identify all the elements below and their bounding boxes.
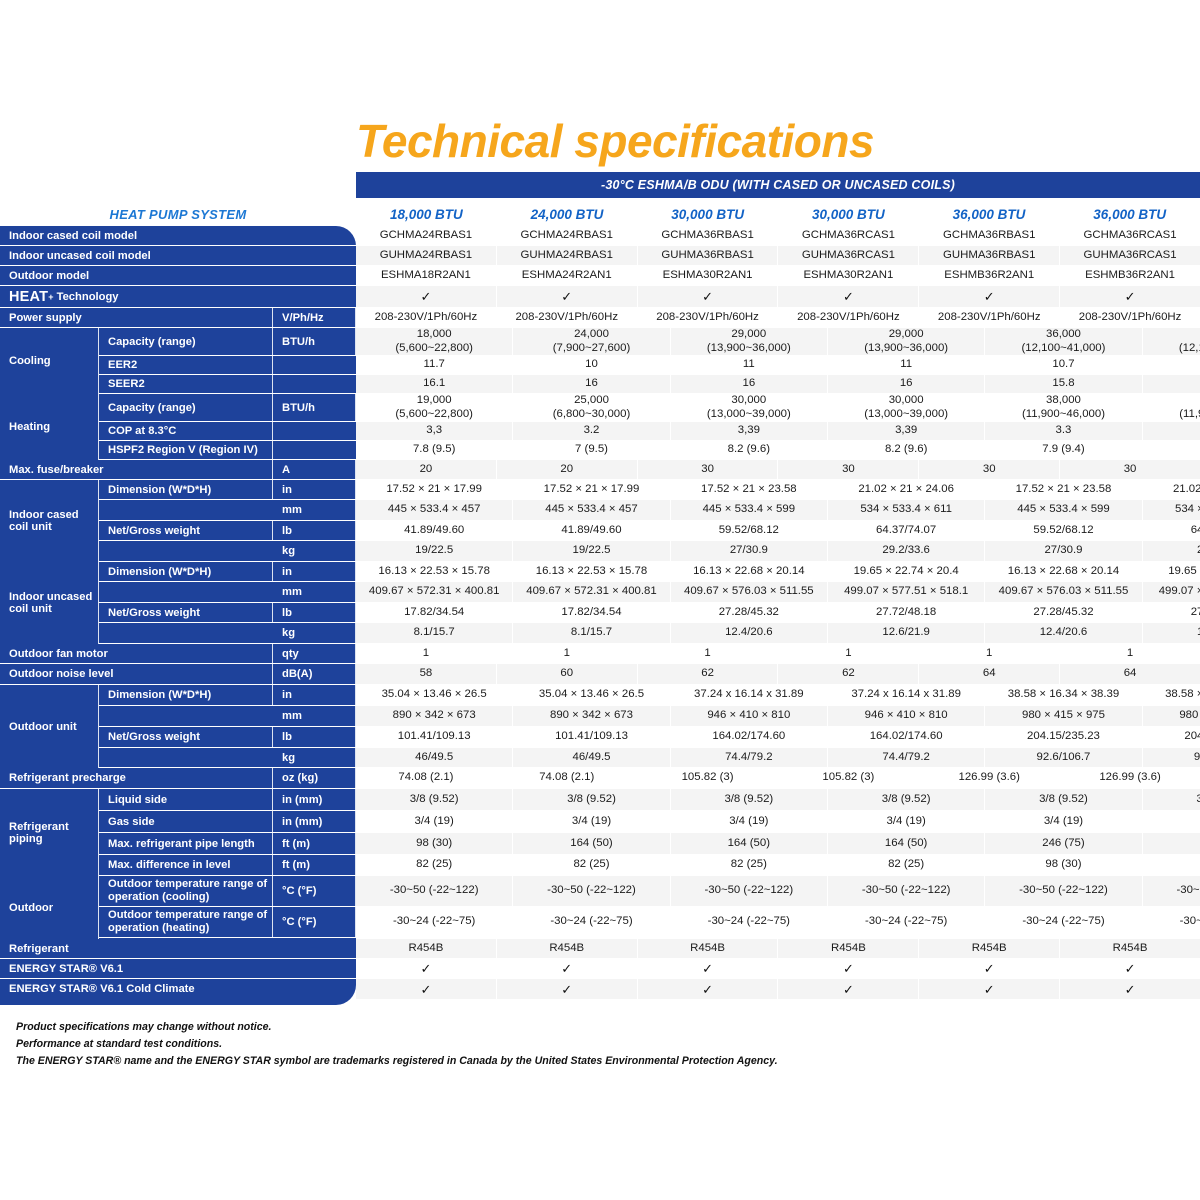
cell: 3/8 (9.52) xyxy=(828,789,985,810)
table-row: Net/Gross weight lb 41.89/49.60 41.89/49… xyxy=(99,521,1200,541)
cell: 3/8 (9.52) xyxy=(985,789,1142,810)
group-label-heating: Heating xyxy=(0,394,99,460)
table-row: Net/Gross weight lb 17.82/34.54 17.82/34… xyxy=(99,603,1200,623)
cell-check: ✓ xyxy=(638,959,779,978)
cell: 126.99 (3.6) xyxy=(919,768,1060,788)
cell: 17.82/34.54 xyxy=(356,603,513,622)
cell: 98 (30) xyxy=(1143,855,1200,875)
row-label: Outdoor temperature range of operation (… xyxy=(99,907,273,937)
row-label: Net/Gross weight xyxy=(99,603,273,622)
group-outdoor-unit: Outdoor unit Dimension (W*D*H) in 35.04 … xyxy=(0,685,1200,768)
row-label-spacer xyxy=(99,500,273,520)
cell: 17.82/34.54 xyxy=(513,603,670,622)
cell: 30 xyxy=(1060,460,1200,479)
cell-line1: 38,000 xyxy=(1046,394,1081,407)
group-label-cooling: Cooling xyxy=(0,328,99,394)
cell: 499.07 × 577.51 × 518.1 xyxy=(828,582,985,602)
table-row: Outdoor temperature range of operation (… xyxy=(99,907,1200,938)
row-label-spacer xyxy=(99,706,273,726)
spec-table: Indoor cased coil model GCHMA24RBAS1 GCH… xyxy=(0,226,1200,999)
cell: 12.6/21.9 xyxy=(828,623,985,643)
check-icon: ✓ xyxy=(843,962,854,975)
cell: 41.89/49.60 xyxy=(356,521,513,540)
cell: 208-230V/1Ph/60Hz xyxy=(638,308,779,327)
cell: 29.2/33.6 xyxy=(828,541,985,561)
table-row: Outdoor fan motor qty 1 1 1 1 1 1 xyxy=(0,644,1200,664)
cell: 208-230V/1Ph/60Hz xyxy=(1060,308,1200,327)
cell: GUHMA36RBAS1 xyxy=(919,246,1060,265)
cell: 36,000(12,100~41,000) xyxy=(1143,328,1200,355)
row-label-spacer xyxy=(99,541,273,561)
cell: 3,39 xyxy=(828,422,985,440)
cell: -30~24 (-22~75) xyxy=(1143,907,1200,937)
cell: 16 xyxy=(671,375,828,393)
check-icon: ✓ xyxy=(561,983,572,996)
cell-line2: (13,900~36,000) xyxy=(864,342,948,355)
cell: 164 (50) xyxy=(513,833,670,854)
table-row: Capacity (range) BTU/h 18,000(5,600~22,8… xyxy=(99,328,1200,356)
check-icon: ✓ xyxy=(420,290,431,303)
cell: 890 × 342 × 673 xyxy=(356,706,513,726)
cell: 17.52 × 21 × 23.58 xyxy=(985,480,1142,499)
table-row: SEER2 16.1 16 16 16 15.8 15.8 xyxy=(99,375,1200,394)
cell: 21.02 × 21 × 24.06 xyxy=(828,480,985,499)
cell: 3/4 (19) xyxy=(828,811,985,832)
row-label: COP at 8.3°C xyxy=(99,422,273,440)
row-label: EER2 xyxy=(99,356,273,374)
row-label: Power supply xyxy=(0,308,273,327)
cell-line2: (7,900~27,600) xyxy=(553,342,631,355)
table-row: ENERGY STAR® V6.1 Cold Climate ✓ ✓ ✓ ✓ ✓… xyxy=(0,979,1200,999)
check-icon: ✓ xyxy=(1125,290,1136,303)
cell: 29,000(13,900~36,000) xyxy=(671,328,828,355)
table-row: Indoor uncased coil model GUHMA24RBAS1 G… xyxy=(0,246,1200,266)
cell: 46/49.5 xyxy=(513,748,670,767)
cell: ESHMA18R2AN1 xyxy=(356,266,497,285)
cell: 8.1/15.7 xyxy=(356,623,513,643)
cell: 3/8 (9.52) xyxy=(671,789,828,810)
cell: 10 xyxy=(513,356,670,374)
cell: 27.28/45.32 xyxy=(985,603,1142,622)
cell: -30~24 (-22~75) xyxy=(513,907,670,937)
cell: 19.65 × 22.74 × 20.4 xyxy=(828,562,985,581)
cell: 164.02/174.60 xyxy=(828,727,985,747)
check-icon: ✓ xyxy=(702,962,713,975)
cell-line2: (11,900~46,000) xyxy=(1179,408,1200,421)
group-label-outdoor-unit: Outdoor unit xyxy=(0,685,99,768)
cell: GUHMA24RBAS1 xyxy=(497,246,638,265)
cell-line2: (6,800~30,000) xyxy=(553,408,631,421)
check-icon: ✓ xyxy=(420,962,431,975)
cell: 10.7 xyxy=(1143,356,1200,374)
cell: -30~24 (-22~75) xyxy=(356,907,513,937)
cell: 35.04 × 13.46 × 26.5 xyxy=(513,685,670,705)
row-label: Outdoor model xyxy=(0,266,356,285)
group-heating: Heating Capacity (range) BTU/h 19,000(5,… xyxy=(0,394,1200,460)
cell: 82 (25) xyxy=(671,855,828,875)
cell-check: ✓ xyxy=(497,959,638,978)
cell: 15.8 xyxy=(1143,375,1200,393)
cell: 946 × 410 × 810 xyxy=(671,706,828,726)
check-icon: ✓ xyxy=(702,983,713,996)
cell: 27/30.9 xyxy=(671,541,828,561)
cell-line2: (13,000~39,000) xyxy=(864,408,948,421)
cell: 164 (50) xyxy=(671,833,828,854)
cell: R454B xyxy=(638,939,779,958)
cell: 38,000(11,900~46,000) xyxy=(1143,394,1200,421)
page-title: Technical specifications xyxy=(356,118,874,164)
table-row: Outdoor noise level dB(A) 58 60 62 62 64… xyxy=(0,664,1200,685)
group-cooling: Cooling Capacity (range) BTU/h 18,000(5,… xyxy=(0,328,1200,394)
cell: 11 xyxy=(671,356,828,374)
cell: 1 xyxy=(919,644,1060,663)
cell: 16.1 xyxy=(356,375,513,393)
footnote-0: Product specifications may change withou… xyxy=(16,1019,1016,1036)
odu-header-band: -30°C ESHMA/B ODU (WITH CASED OR UNCASED… xyxy=(356,172,1200,198)
group-outdoor: Outdoor Outdoor temperature range of ope… xyxy=(0,876,1200,939)
cell: 101.41/109.13 xyxy=(513,727,670,747)
cell-line1: 18,000 xyxy=(417,328,452,341)
row-unit: A xyxy=(273,460,356,479)
cell-check: ✓ xyxy=(497,979,638,999)
cell-check: ✓ xyxy=(919,286,1060,307)
row-label: Indoor uncased coil model xyxy=(0,246,356,265)
check-icon: ✓ xyxy=(561,290,572,303)
cell: -30~24 (-22~75) xyxy=(828,907,985,937)
cell: 30 xyxy=(638,460,779,479)
table-row: HSPF2 Region V (Region IV) 7.8 (9.5) 7 (… xyxy=(99,441,1200,460)
cell: R454B xyxy=(356,939,497,958)
cell-line1: 24,000 xyxy=(574,328,609,341)
table-row: kg 19/22.5 19/22.5 27/30.9 29.2/33.6 27/… xyxy=(99,541,1200,562)
check-icon: ✓ xyxy=(1125,962,1136,975)
cell-line2: (12,100~41,000) xyxy=(1022,342,1106,355)
cell: R454B xyxy=(919,939,1060,958)
cell: 12.6/21.9 xyxy=(1143,623,1200,643)
cell: 208-230V/1Ph/60Hz xyxy=(356,308,497,327)
cell: R454B xyxy=(497,939,638,958)
group-label-refrigerant-piping: Refrigerant piping xyxy=(0,789,99,876)
cell-check: ✓ xyxy=(1060,959,1200,978)
cell: 27.28/45.32 xyxy=(671,603,828,622)
cell-line1: 36,000 xyxy=(1046,328,1081,341)
column-header-5: 36,000 BTU xyxy=(1059,203,1200,225)
cell-check: ✓ xyxy=(356,286,497,307)
row-label: Outdoor noise level xyxy=(0,664,273,684)
cell: 10.7 xyxy=(985,356,1142,374)
cell: 64 xyxy=(1060,664,1200,684)
cell: 64 xyxy=(919,664,1060,684)
cell: 1 xyxy=(778,644,919,663)
cell-check: ✓ xyxy=(1060,979,1200,999)
row-label: Dimension (W*D*H) xyxy=(99,562,273,581)
row-label: Max. refrigerant pipe length xyxy=(99,833,273,854)
cell: R454B xyxy=(778,939,919,958)
cell: 98 (30) xyxy=(985,855,1142,875)
table-row: COP at 8.3°C 3,3 3.2 3,39 3,39 3.3 3.3 xyxy=(99,422,1200,441)
cell: -30~24 (-22~75) xyxy=(985,907,1142,937)
table-row: mm 409.67 × 572.31 × 400.81 409.67 × 572… xyxy=(99,582,1200,603)
row-label: Outdoor fan motor xyxy=(0,644,273,663)
cell: 534 × 533.4 × 611 xyxy=(828,500,985,520)
cell: 3,39 xyxy=(671,422,828,440)
row-unit: °C (°F) xyxy=(273,876,356,906)
cell: 24,000(7,900~27,600) xyxy=(513,328,670,355)
cell: 204.15/235.23 xyxy=(985,727,1142,747)
cell-check: ✓ xyxy=(638,286,779,307)
cell: R454B xyxy=(1060,939,1200,958)
cell: 82 (25) xyxy=(513,855,670,875)
row-label: Max. fuse/breaker xyxy=(0,460,273,479)
cell: 7 (9.5) xyxy=(513,441,670,459)
cell: 38,000(11,900~46,000) xyxy=(985,394,1142,421)
cell: 409.67 × 572.31 × 400.81 xyxy=(356,582,513,602)
cell: 445 × 533.4 × 599 xyxy=(671,500,828,520)
cell: 445 × 533.4 × 599 xyxy=(985,500,1142,520)
table-row: kg 46/49.5 46/49.5 74.4/79.2 74.4/79.2 9… xyxy=(99,748,1200,768)
cell-check: ✓ xyxy=(356,959,497,978)
cell: 64.37/74.07 xyxy=(828,521,985,540)
table-row: kg 8.1/15.7 8.1/15.7 12.4/20.6 12.6/21.9… xyxy=(99,623,1200,644)
cell: 8.2 (9.6) xyxy=(671,441,828,459)
cell: 7.9 (9.4) xyxy=(1143,441,1200,459)
cell: 17.52 × 21 × 23.58 xyxy=(671,480,828,499)
cell: 36,000(12,100~41,000) xyxy=(985,328,1142,355)
column-header-1: 24,000 BTU xyxy=(497,203,638,225)
cell: 74.08 (2.1) xyxy=(497,768,638,788)
cell: 82 (25) xyxy=(828,855,985,875)
row-label: Gas side xyxy=(99,811,273,832)
row-unit: in xyxy=(273,562,356,581)
cell: 21.02 × 21 × 24.06 xyxy=(1143,480,1200,499)
row-label: Liquid side xyxy=(99,789,273,810)
cell: 38.58 × 16.34 × 38.39 xyxy=(985,685,1142,705)
row-unit: in xyxy=(273,480,356,499)
column-header-4: 36,000 BTU xyxy=(919,203,1060,225)
table-row: Capacity (range) BTU/h 19,000(5,600~22,8… xyxy=(99,394,1200,422)
cell: 3.2 xyxy=(513,422,670,440)
cell: 35.04 × 13.46 × 26.5 xyxy=(356,685,513,705)
cell: 74.4/79.2 xyxy=(671,748,828,767)
cell: 164.02/174.60 xyxy=(671,727,828,747)
cell-line1: 29,000 xyxy=(731,328,766,341)
cell: 8.2 (9.6) xyxy=(828,441,985,459)
row-unit: BTU/h xyxy=(273,394,356,421)
cell: GCHMA24RBAS1 xyxy=(356,226,497,245)
group-refrigerant-piping: Refrigerant piping Liquid side in (mm) 3… xyxy=(0,789,1200,876)
cell: 1 xyxy=(1060,644,1200,663)
row-label: Dimension (W*D*H) xyxy=(99,685,273,705)
row-label-spacer xyxy=(99,623,273,643)
cell-line2: (5,600~22,800) xyxy=(395,342,473,355)
row-unit: mm xyxy=(273,582,356,602)
row-unit: oz (kg) xyxy=(273,768,356,788)
check-icon: ✓ xyxy=(984,962,995,975)
cell: 8.1/15.7 xyxy=(513,623,670,643)
row-label: Net/Gross weight xyxy=(99,521,273,540)
cell: 37.24 x 16.14 x 31.89 xyxy=(671,685,828,705)
heat-label: HEAT xyxy=(9,289,48,305)
cell: 3,3 xyxy=(356,422,513,440)
cell: 38.58 × 16.34 × 38.39 xyxy=(1143,685,1200,705)
row-label-spacer xyxy=(99,748,273,767)
cell-check: ✓ xyxy=(638,979,779,999)
row-unit: kg xyxy=(273,623,356,643)
cell: GCHMA36RBAS1 xyxy=(638,226,779,245)
cell: 101.41/109.13 xyxy=(356,727,513,747)
check-icon: ✓ xyxy=(984,290,995,303)
cell: 409.67 × 576.03 × 511.55 xyxy=(671,582,828,602)
cell: 3.3 xyxy=(1143,422,1200,440)
cell: 19/22.5 xyxy=(356,541,513,561)
cell-line1: 29,000 xyxy=(889,328,924,341)
cell: 3/8 (9.52) xyxy=(1143,789,1200,810)
cell: GCHMA24RBAS1 xyxy=(497,226,638,245)
cell: 29.2/33.6 xyxy=(1143,541,1200,561)
group-indoor-cased-coil-unit: Indoor cased coil unit Dimension (W*D*H)… xyxy=(0,480,1200,562)
cell: GUHMA36RBAS1 xyxy=(638,246,779,265)
table-row: Power supply V/Ph/Hz 208-230V/1Ph/60Hz 2… xyxy=(0,308,1200,328)
cell: 499.07 × 577.51 × 518.1 xyxy=(1143,582,1200,602)
cell: GUHMA36RCAS1 xyxy=(1060,246,1200,265)
row-unit: mm xyxy=(273,500,356,520)
cell: 3/4 (19) xyxy=(1143,811,1200,832)
table-row: Dimension (W*D*H) in 35.04 × 13.46 × 26.… xyxy=(99,685,1200,706)
cell-line2: (13,900~36,000) xyxy=(707,342,791,355)
cell: 30,000(13,000~39,000) xyxy=(828,394,985,421)
cell: 946 × 410 × 810 xyxy=(828,706,985,726)
row-label: HSPF2 Region V (Region IV) xyxy=(99,441,273,459)
cell: 19/22.5 xyxy=(513,541,670,561)
table-row: Refrigerant precharge oz (kg) 74.08 (2.1… xyxy=(0,768,1200,789)
column-header-2: 30,000 BTU xyxy=(637,203,778,225)
cell: 204.15/235.23 xyxy=(1143,727,1200,747)
cell: GCHMA36RCAS1 xyxy=(1060,226,1200,245)
table-row: Dimension (W*D*H) in 16.13 × 22.53 × 15.… xyxy=(99,562,1200,582)
row-label: Refrigerant xyxy=(0,939,356,958)
cell: ESHMA30R2AN1 xyxy=(778,266,919,285)
cell: 16 xyxy=(828,375,985,393)
cell: 98 (30) xyxy=(356,833,513,854)
cell: 12.4/20.6 xyxy=(671,623,828,643)
table-row: Liquid side in (mm) 3/8 (9.52) 3/8 (9.52… xyxy=(99,789,1200,811)
cell: 208-230V/1Ph/60Hz xyxy=(919,308,1060,327)
cell: 12.4/20.6 xyxy=(985,623,1142,643)
cell: -30~50 (-22~122) xyxy=(985,876,1142,906)
cell: 27.72/48.18 xyxy=(1143,603,1200,622)
row-label-heat-technology: HEAT+ Technology xyxy=(0,286,356,307)
check-icon: ✓ xyxy=(702,290,713,303)
cell: 105.82 (3) xyxy=(638,768,779,788)
row-label: Max. difference in level xyxy=(99,855,273,875)
footnote-2: The ENERGY STAR® name and the ENERGY STA… xyxy=(16,1053,1016,1070)
cell: 3/4 (19) xyxy=(671,811,828,832)
table-row: EER2 11.7 10 11 11 10.7 10.7 xyxy=(99,356,1200,375)
cell: 534 × 533.4 × 611 xyxy=(1143,500,1200,520)
group-indoor-uncased-coil-unit: Indoor uncased coil unit Dimension (W*D*… xyxy=(0,562,1200,644)
cell: 59.52/68.12 xyxy=(985,521,1142,540)
cell: 3/8 (9.52) xyxy=(356,789,513,810)
cell: GCHMA36RCAS1 xyxy=(778,226,919,245)
row-unit: qty xyxy=(273,644,356,663)
plus-icon: + xyxy=(48,292,53,302)
cell: 58 xyxy=(356,664,497,684)
cell: 92.6/106.7 xyxy=(985,748,1142,767)
cell: 409.67 × 572.31 × 400.81 xyxy=(513,582,670,602)
table-row: Net/Gross weight lb 101.41/109.13 101.41… xyxy=(99,727,1200,748)
cell-line2: (12,100~41,000) xyxy=(1179,342,1200,355)
cell: 3/4 (19) xyxy=(985,811,1142,832)
cell: -30~50 (-22~122) xyxy=(671,876,828,906)
cell: 980 × 415 × 975 xyxy=(985,706,1142,726)
cell: 82 (25) xyxy=(356,855,513,875)
check-icon: ✓ xyxy=(420,983,431,996)
table-row: Outdoor model ESHMA18R2AN1 ESHMA24R2AN1 … xyxy=(0,266,1200,286)
cell: 18,000(5,600~22,800) xyxy=(356,328,513,355)
cell: -30~50 (-22~122) xyxy=(356,876,513,906)
cell-line2: (11,900~46,000) xyxy=(1022,408,1105,421)
cell-check: ✓ xyxy=(497,286,638,307)
cell: 445 × 533.4 × 457 xyxy=(356,500,513,520)
cell: 20 xyxy=(497,460,638,479)
cell: 62 xyxy=(778,664,919,684)
cell: ESHMA24R2AN1 xyxy=(497,266,638,285)
cell: -30~50 (-22~122) xyxy=(1143,876,1200,906)
cell-check: ✓ xyxy=(919,979,1060,999)
row-unit: lb xyxy=(273,603,356,622)
row-label: Outdoor temperature range of operation (… xyxy=(99,876,273,906)
row-label: Dimension (W*D*H) xyxy=(99,480,273,499)
cell: 74.08 (2.1) xyxy=(356,768,497,788)
cell: 62 xyxy=(638,664,779,684)
cell: 246 (75) xyxy=(985,833,1142,854)
row-label: Indoor cased coil model xyxy=(0,226,356,245)
row-label-spacer xyxy=(99,582,273,602)
cell: 890 × 342 × 673 xyxy=(513,706,670,726)
cell: 16.13 × 22.53 × 15.78 xyxy=(356,562,513,581)
check-icon: ✓ xyxy=(984,983,995,996)
spec-sheet-page: Technical specifications -30°C ESHMA/B O… xyxy=(0,0,1200,1200)
table-row: Max. refrigerant pipe length ft (m) 98 (… xyxy=(99,833,1200,855)
cell: 1 xyxy=(497,644,638,663)
cell: 20 xyxy=(356,460,497,479)
cell: 105.82 (3) xyxy=(778,768,919,788)
row-unit: ft (m) xyxy=(273,833,356,854)
cell: 17.52 × 21 × 17.99 xyxy=(513,480,670,499)
cell: 7.8 (9.5) xyxy=(356,441,513,459)
cell: 1 xyxy=(356,644,497,663)
cell: -30~50 (-22~122) xyxy=(513,876,670,906)
row-unit xyxy=(273,356,356,374)
row-unit: ft (m) xyxy=(273,855,356,875)
cell: 16.13 × 22.53 × 15.78 xyxy=(513,562,670,581)
check-icon: ✓ xyxy=(843,290,854,303)
row-unit: lb xyxy=(273,727,356,747)
cell: GUHMA36RCAS1 xyxy=(778,246,919,265)
cell: 1 xyxy=(638,644,779,663)
table-row: Outdoor temperature range of operation (… xyxy=(99,876,1200,907)
heat-pump-system-label: HEAT PUMP SYSTEM xyxy=(0,204,356,224)
row-unit xyxy=(273,422,356,440)
cell: 3/4 (19) xyxy=(513,811,670,832)
footnotes: Product specifications may change withou… xyxy=(16,1019,1016,1070)
cell-line1: 25,000 xyxy=(574,394,609,407)
cell: 17.52 × 21 × 17.99 xyxy=(356,480,513,499)
cell: 74.4/79.2 xyxy=(828,748,985,767)
cell: 64.37/74.07 xyxy=(1143,521,1200,540)
cell-line2: (5,600~22,800) xyxy=(395,408,473,421)
column-header-3: 30,000 BTU xyxy=(778,203,919,225)
